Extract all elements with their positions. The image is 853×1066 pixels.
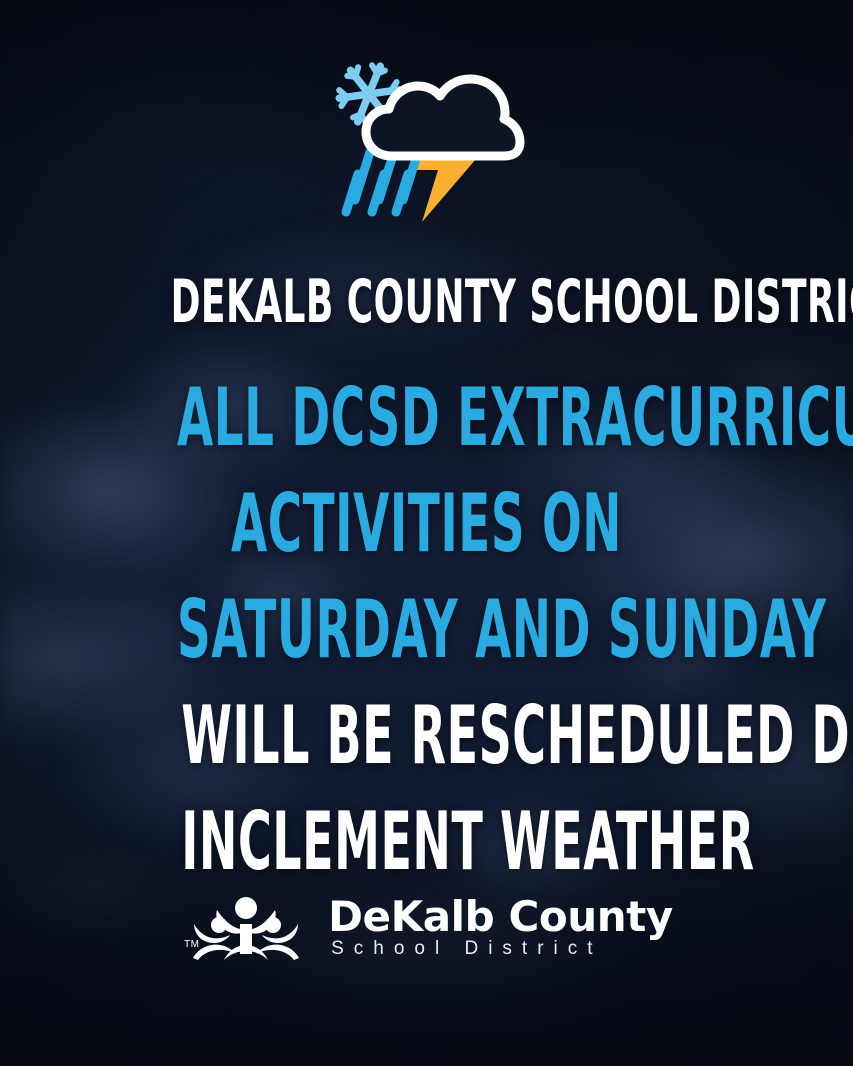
three-figures-logo-mark: TM [180,888,312,966]
message-line-2: Activities on [177,484,676,564]
message-line-4: Will Be Rescheduled Due To [181,696,671,776]
weather-alert-poster: DeKalb County School District Alert: All… [0,0,853,1066]
winter-storm-icon-container [0,52,853,227]
page-title: DeKalb County School District Alert: [171,272,683,332]
logo-figures-icon [180,888,312,966]
logo-title: DeKalb County [328,896,673,939]
rain-streaks-icon [346,152,418,212]
trademark-symbol: TM [184,939,199,950]
logo-subtitle: School District [328,938,602,960]
message-line-1: All DCSD Extracurricular [177,378,676,458]
message-line-3: Saturday and Sunday [177,590,676,670]
logo-text-block: DeKalb County School District [328,894,673,961]
dcsd-logo: TM DeKalb County School District [0,888,853,966]
message-line-5: Inclement Weather [181,802,671,882]
winter-storm-icon [322,52,532,227]
alert-message-block: All DCSD Extracurricular Activities on S… [0,378,853,908]
